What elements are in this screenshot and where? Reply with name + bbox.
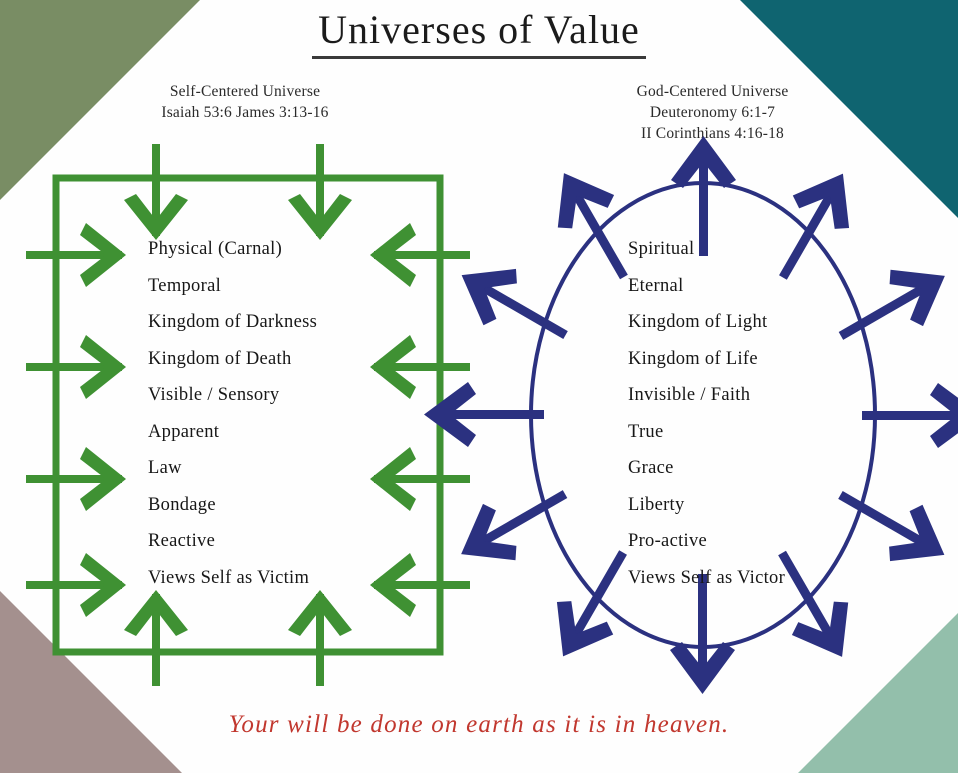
list-item: Eternal	[628, 277, 908, 314]
list-item: Liberty	[628, 496, 908, 533]
page-title: Universes of Value	[312, 8, 646, 59]
arrow-right-left-1	[26, 223, 126, 287]
list-item: True	[628, 423, 908, 460]
left-panel-heading: Self-Centered Universe	[120, 82, 370, 103]
right-panel-header: God-Centered Universe Deuteronomy 6:1-7 …	[585, 82, 840, 145]
list-item: Spiritual	[628, 240, 908, 277]
title-container: Universes of Value	[0, 8, 958, 59]
list-item: Pro-active	[628, 532, 908, 569]
arrow-down-top-right	[288, 144, 352, 240]
left-panel-reference: Isaiah 53:6 James 3:13-16	[120, 103, 370, 124]
list-item: Views Self as Victor	[628, 569, 908, 606]
list-item: Apparent	[148, 423, 408, 460]
list-item: Temporal	[148, 277, 408, 314]
list-item: Kingdom of Death	[148, 350, 408, 387]
list-item: Reactive	[148, 532, 408, 569]
list-item: Kingdom of Life	[628, 350, 908, 387]
self-centered-universe-list: Physical (Carnal) Temporal Kingdom of Da…	[148, 240, 408, 605]
list-item: Kingdom of Light	[628, 313, 908, 350]
list-item: Physical (Carnal)	[148, 240, 408, 277]
list-item: Views Self as Victim	[148, 569, 408, 606]
list-item: Grace	[628, 459, 908, 496]
arrow-out-0	[671, 136, 736, 256]
arrow-right-left-4	[26, 553, 126, 617]
list-item: Visible / Sensory	[148, 386, 408, 423]
left-panel-header: Self-Centered Universe Isaiah 53:6 James…	[120, 82, 370, 124]
slide-canvas: Universes of Value Self-Centered Univers…	[0, 0, 958, 773]
god-centered-universe-list: Spiritual Eternal Kingdom of Light Kingd…	[628, 240, 908, 605]
right-panel-reference-1: Deuteronomy 6:1-7	[585, 103, 840, 124]
list-item: Law	[148, 459, 408, 496]
footer-verse: Your will be done on earth as it is in h…	[0, 711, 958, 739]
arrow-right-left-2	[26, 335, 126, 399]
arrow-down-top-left	[124, 144, 188, 240]
list-item: Bondage	[148, 496, 408, 533]
list-item: Invisible / Faith	[628, 386, 908, 423]
right-panel-heading: God-Centered Universe	[585, 82, 840, 103]
right-panel-reference-2: II Corinthians 4:16-18	[585, 124, 840, 145]
list-item: Kingdom of Darkness	[148, 313, 408, 350]
arrow-right-left-3	[26, 447, 126, 511]
